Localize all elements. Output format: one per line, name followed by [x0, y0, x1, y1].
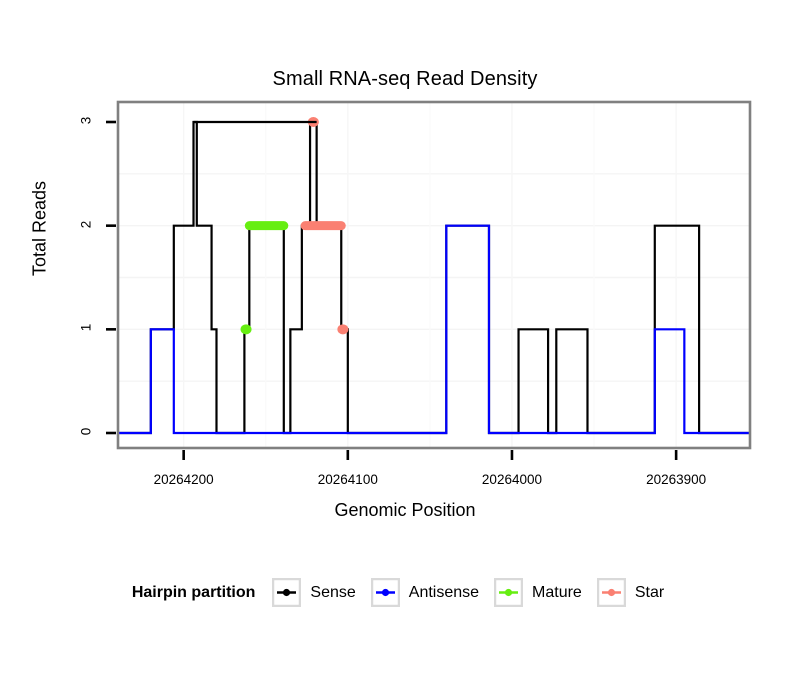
legend-entry-sense[interactable]: Sense	[271, 577, 369, 608]
legend-label: Sense	[310, 584, 355, 602]
x-tick-label: 20263900	[616, 472, 736, 487]
legend-key-icon	[596, 577, 627, 608]
legend-label: Star	[635, 584, 664, 602]
legend-title: Hairpin partition	[132, 584, 256, 602]
chart-figure: Small RNA-seq Read Density Total Reads G…	[0, 0, 810, 690]
annotation-point-mature	[241, 324, 252, 334]
y-tick-label: 1	[79, 308, 94, 348]
x-tick-label: 20264200	[124, 472, 244, 487]
y-tick-label: 2	[79, 204, 94, 244]
legend-entry-antisense[interactable]: Antisense	[370, 577, 493, 608]
legend-label: Mature	[532, 584, 582, 602]
legend-key-icon	[370, 577, 401, 608]
legend-label: Antisense	[409, 584, 479, 602]
y-tick-label: 3	[79, 101, 94, 141]
chart-legend: Hairpin partition SenseAntisenseMatureSt…	[0, 577, 810, 608]
legend-entry-mature[interactable]: Mature	[493, 577, 596, 608]
y-tick-label: 0	[79, 412, 94, 452]
legend-entries: SenseAntisenseMatureStar	[271, 577, 678, 608]
x-tick-label: 20264000	[452, 472, 572, 487]
legend-key-icon	[271, 577, 302, 608]
annotation-point-star	[337, 324, 348, 334]
legend-key-icon	[493, 577, 524, 608]
legend-entry-star[interactable]: Star	[596, 577, 678, 608]
x-tick-label: 20264100	[288, 472, 408, 487]
